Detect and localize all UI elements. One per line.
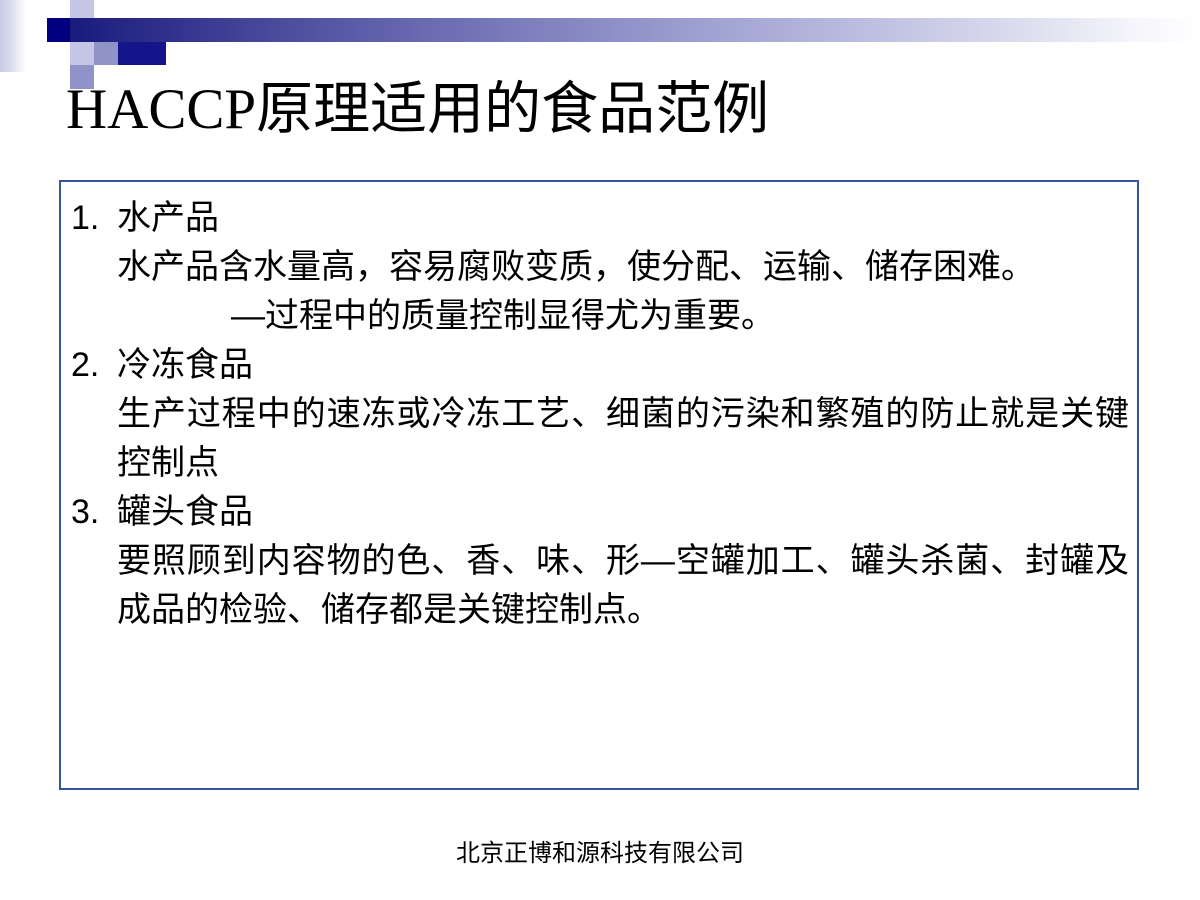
list-item-heading: 2.冷冻食品 (71, 341, 1129, 390)
list-item-heading: 1.水产品 (71, 194, 1129, 243)
content-box: 1.水产品 水产品含水量高，容易腐败变质，使分配、运输、储存困难。 —过程中的质… (59, 180, 1139, 790)
ornament-gradient-bar (70, 18, 1200, 42)
ornament-left-gradient-band (0, 0, 26, 72)
footer-company-name: 北京正博和源科技有限公司 (0, 838, 1200, 870)
ornament-square-mid-2 (94, 42, 118, 65)
ornament-square-light-1 (70, 0, 94, 18)
list-item-heading-text: 水产品 (117, 199, 219, 237)
list-item-number: 1. (71, 194, 117, 243)
list-item-heading: 3.罐头食品 (71, 488, 1129, 537)
list-item: 1.水产品 水产品含水量高，容易腐败变质，使分配、运输、储存困难。 —过程中的质… (71, 194, 1129, 341)
list-item-body: 要照顾到内容物的色、香、味、形—空罐加工、罐头杀菌、封罐及成品的检验、储存都是关… (71, 537, 1129, 635)
list-item-body: 生产过程中的速冻或冷冻工艺、细菌的污染和繁殖的防止就是关键控制点 (71, 390, 1129, 488)
content-list: 1.水产品 水产品含水量高，容易腐败变质，使分配、运输、储存困难。 —过程中的质… (71, 194, 1129, 635)
ornament-square-light-3 (70, 42, 94, 65)
list-item-heading-text: 罐头食品 (117, 493, 253, 531)
ornament-square-navy-1 (47, 18, 71, 42)
page-title: HACCP原理适用的食品范例 (66, 78, 1166, 142)
list-item-body: 水产品含水量高，容易腐败变质，使分配、运输、储存困难。 (71, 243, 1129, 292)
list-item-heading-text: 冷冻食品 (117, 346, 253, 384)
list-item-number: 3. (71, 488, 117, 537)
list-item-note: —过程中的质量控制显得尤为重要。 (71, 292, 1129, 341)
list-item: 3.罐头食品 要照顾到内容物的色、香、味、形—空罐加工、罐头杀菌、封罐及成品的检… (71, 488, 1129, 635)
ornament-square-navy-2 (118, 42, 166, 65)
list-item-number: 2. (71, 341, 117, 390)
header-ornament (0, 0, 1200, 80)
list-item: 2.冷冻食品 生产过程中的速冻或冷冻工艺、细菌的污染和繁殖的防止就是关键控制点 (71, 341, 1129, 488)
